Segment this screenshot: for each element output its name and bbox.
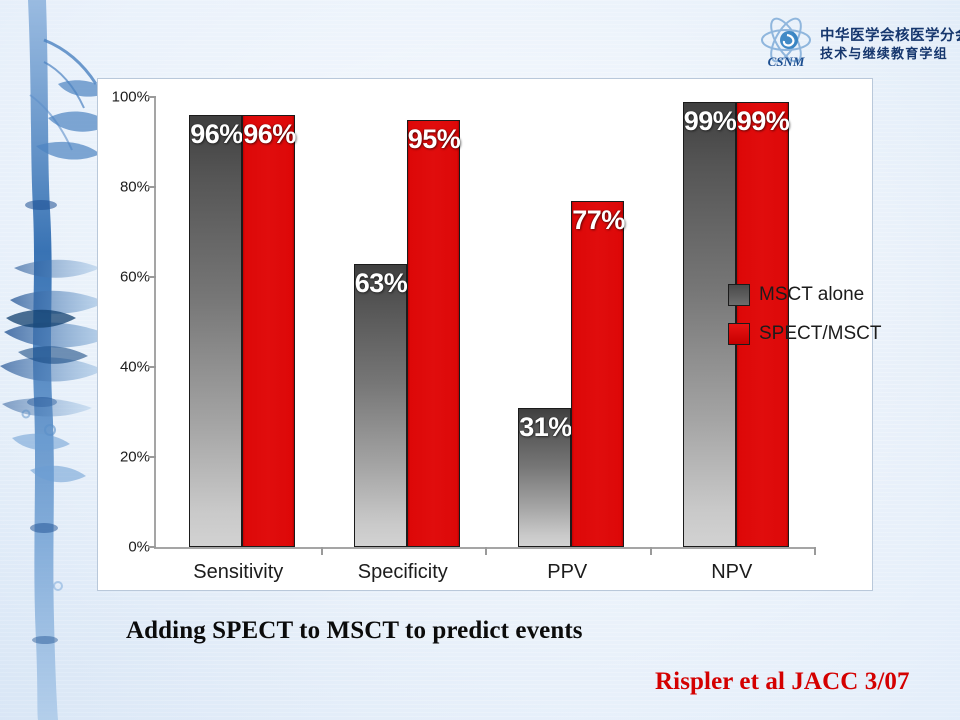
bar-value-label: 99%: [737, 108, 788, 135]
y-axis-tick-80: 80%: [120, 179, 150, 196]
legend-swatch-icon: [728, 284, 750, 306]
y-axis-tickmark: [148, 186, 156, 188]
x-axis-tickmark: [650, 547, 652, 555]
bar-sensitivity-spect-msct[interactable]: 96%: [242, 115, 295, 547]
y-axis-tick-0: 0%: [128, 539, 150, 556]
legend-item-spect-msct[interactable]: SPECT/MSCT: [728, 323, 878, 345]
chart-panel: 0%20%40%60%80%100% 96%96%63%95%31%77%99%…: [97, 78, 873, 591]
bar-value-label: 99%: [684, 108, 735, 135]
bar-chart-plot: 0%20%40%60%80%100% 96%96%63%95%31%77%99%…: [98, 79, 872, 590]
slide-caption: Adding SPECT to MSCT to predict events: [126, 617, 583, 645]
logo-line-1: 中华医学会核医学分会: [820, 29, 960, 44]
y-axis-tickmark: [148, 276, 156, 278]
x-axis-label-npv: NPV: [650, 561, 815, 584]
bar-group-ppv: 31%77%: [518, 97, 624, 547]
bar-ppv-msct[interactable]: 31%: [518, 408, 571, 548]
y-axis-tick-100: 100%: [112, 89, 150, 106]
bar-group-specificity: 63%95%: [354, 97, 460, 547]
x-axis-label-sensitivity: Sensitivity: [156, 561, 321, 584]
bars-layer: 96%96%63%95%31%77%99%99%: [156, 97, 814, 547]
bar-specificity-spect-msct[interactable]: 95%: [407, 120, 460, 548]
csnm-emblem-text: CSNM: [768, 54, 805, 69]
x-axis-tickmark: [814, 547, 816, 555]
csnm-logo: CSNM 中华医学会核医学分会 技术与继续教育学组: [758, 14, 954, 76]
bar-value-label: 96%: [243, 121, 294, 148]
bar-value-label: 31%: [519, 414, 570, 441]
y-axis-tickmark: [148, 366, 156, 368]
bar-group-sensitivity: 96%96%: [189, 97, 295, 547]
citation-text: Rispler et al JACC 3/07: [655, 668, 910, 696]
y-axis-tick-40: 40%: [120, 359, 150, 376]
y-axis-tick-60: 60%: [120, 269, 150, 286]
x-axis-line: [154, 547, 814, 549]
y-axis-tickmark: [148, 546, 156, 548]
y-axis-tick-20: 20%: [120, 449, 150, 466]
x-axis-tickmark: [321, 547, 323, 555]
bar-specificity-msct[interactable]: 63%: [354, 264, 407, 548]
y-axis-tickmark: [148, 456, 156, 458]
logo-text-block: 中华医学会核医学分会 技术与继续教育学组: [820, 29, 960, 62]
bar-value-label: 63%: [355, 270, 406, 297]
chart-legend: MSCT aloneSPECT/MSCT: [728, 284, 878, 362]
x-axis-category-labels: SensitivitySpecificityPPVNPV: [156, 561, 814, 601]
bar-value-label: 77%: [572, 207, 623, 234]
x-axis-label-ppv: PPV: [485, 561, 650, 584]
bar-value-label: 96%: [190, 121, 241, 148]
legend-label: SPECT/MSCT: [759, 323, 881, 345]
legend-swatch-icon: [728, 323, 750, 345]
y-axis-tick-labels: 0%20%40%60%80%100%: [98, 79, 150, 590]
x-axis-tickmark: [485, 547, 487, 555]
bar-value-label: 95%: [408, 126, 459, 153]
x-axis-label-specificity: Specificity: [321, 561, 486, 584]
bar-ppv-spect-msct[interactable]: 77%: [571, 201, 624, 548]
slide-canvas: CSNM 中华医学会核医学分会 技术与继续教育学组 0%20%40%60%80%…: [0, 0, 960, 720]
legend-item-msct-alone[interactable]: MSCT alone: [728, 284, 878, 306]
logo-line-2: 技术与继续教育学组: [820, 48, 960, 62]
bar-sensitivity-msct[interactable]: 96%: [189, 115, 242, 547]
legend-label: MSCT alone: [759, 284, 864, 306]
csnm-atom-emblem-icon: CSNM: [758, 16, 814, 74]
y-axis-tickmark: [148, 96, 156, 98]
